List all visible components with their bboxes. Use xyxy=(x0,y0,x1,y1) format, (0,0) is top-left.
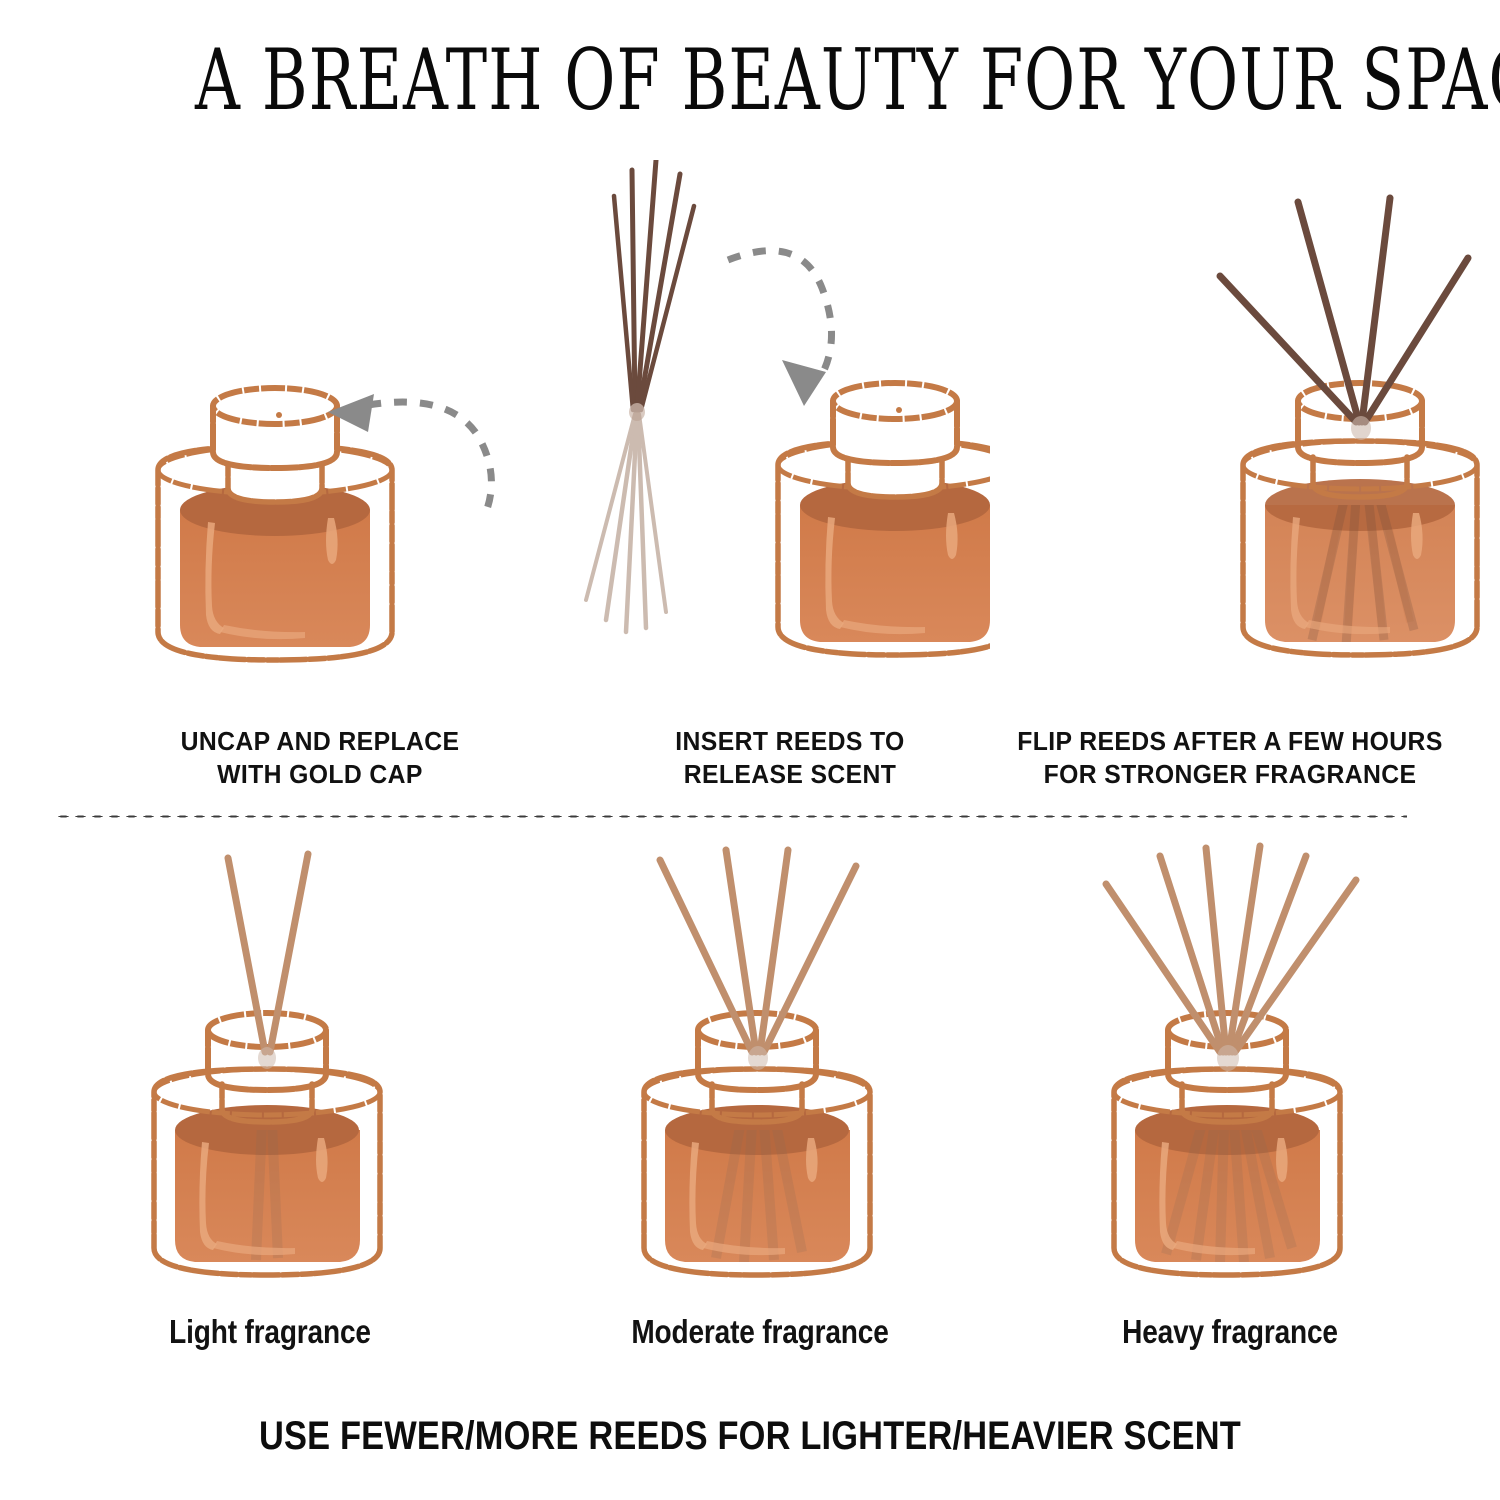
section-divider xyxy=(55,815,1407,818)
gold-cap-top xyxy=(213,388,337,424)
page-title: A BREATH OF BEAUTY FOR YOUR SPACE xyxy=(195,34,1305,126)
reed-convergence-point xyxy=(748,1046,768,1070)
reed-convergence-point xyxy=(1351,416,1371,440)
reed-convergence-point xyxy=(258,1047,276,1069)
step-panel-uncap xyxy=(100,370,520,690)
gold-cap-top xyxy=(208,1013,326,1047)
gold-cap-top xyxy=(833,383,957,419)
diffuser-illustration-light xyxy=(60,840,480,1310)
fragrance-label-moderate: Moderate fragrance xyxy=(573,1313,947,1351)
reeds xyxy=(660,850,856,1052)
fragrance-panel-light xyxy=(60,840,480,1310)
diffuser-illustration-flip xyxy=(1060,160,1480,690)
reed-bundle-upper xyxy=(614,160,694,410)
step-panel-insert xyxy=(570,160,990,690)
step-caption-flip: FLIP REEDS AFTER A FEW HOURS FOR STRONGE… xyxy=(978,726,1482,792)
reed-bundle-lower xyxy=(586,414,666,632)
diffuser-illustration-moderate xyxy=(550,840,970,1310)
infographic-page: A BREATH OF BEAUTY FOR YOUR SPACE xyxy=(0,0,1500,1500)
diffuser-illustration-heavy xyxy=(1020,840,1440,1310)
diffuser-bottle xyxy=(778,383,990,655)
fragrance-label-light: Light fragrance xyxy=(87,1313,453,1351)
reed-convergence-point xyxy=(1217,1045,1239,1071)
diffuser-illustration-uncap xyxy=(100,370,520,690)
cap-nub xyxy=(896,407,902,413)
fragrance-panel-heavy xyxy=(1020,840,1440,1310)
diffuser-illustration-insert xyxy=(570,160,990,690)
reeds-above-cap xyxy=(1220,198,1468,422)
step-caption-uncap: UNCAP AND REPLACE WITH GOLD CAP xyxy=(29,726,611,792)
cap-nub xyxy=(276,412,282,418)
footer-note: USE FEWER/MORE REEDS FOR LIGHTER/HEAVIER… xyxy=(105,1412,1395,1460)
reeds xyxy=(1106,846,1356,1052)
reeds xyxy=(228,854,308,1052)
arrow-head-icon xyxy=(782,360,826,406)
fragrance-panel-moderate xyxy=(550,840,970,1310)
step-panel-flip xyxy=(1060,160,1480,690)
step-caption-insert: INSERT REEDS TO RELEASE SCENT xyxy=(557,726,1023,792)
arrow-dashed-curve xyxy=(728,251,832,378)
fragrance-label-heavy: Heavy fragrance xyxy=(1043,1313,1417,1351)
arrow-dashed-curve xyxy=(368,402,491,512)
